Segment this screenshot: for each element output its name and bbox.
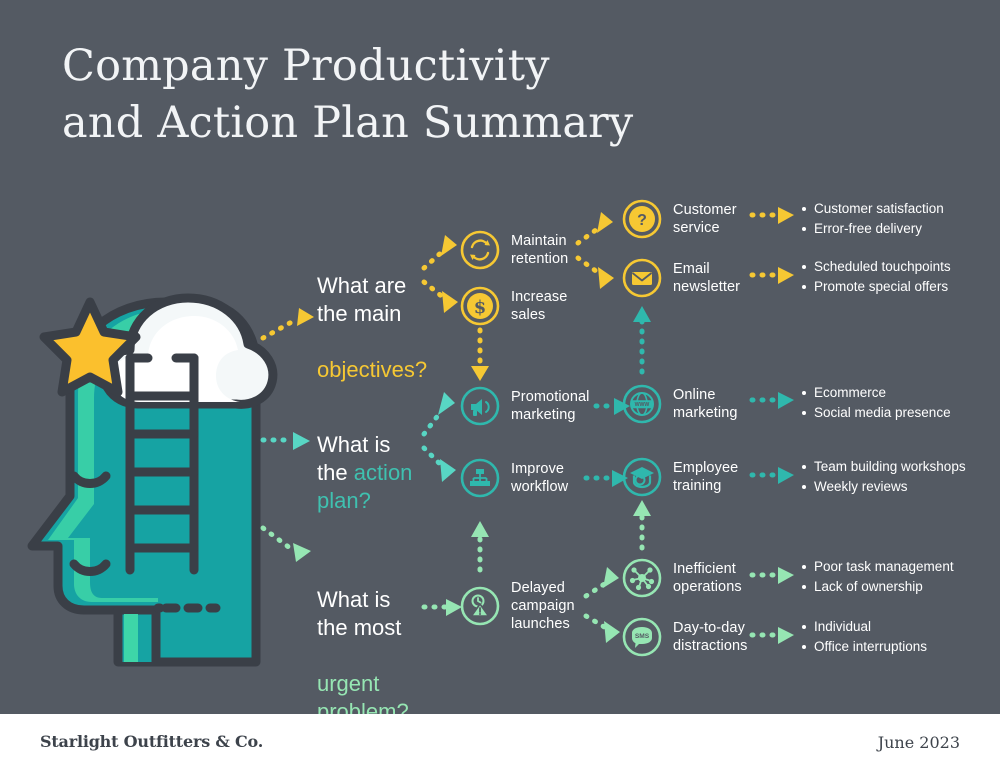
arrow-delayed-to-inefficient: [586, 583, 606, 596]
node-promotional-marketing[interactable]: Promotional marketing: [459, 385, 589, 427]
arrowhead-distractions-bullets: [778, 627, 794, 644]
footer-bar: Starlight Outfitters & Co. June 2023: [0, 714, 1000, 773]
list-item: Customer satisfaction: [800, 199, 1000, 219]
graduation-cap-icon: [621, 456, 663, 498]
arrowhead-head-to-q3: [293, 543, 311, 562]
bullets-email-newsletter: Scheduled touchpoints Promote special of…: [800, 257, 1000, 296]
svg-text:?: ?: [637, 212, 647, 229]
bullets-online-marketing: Ecommerce Social media presence: [800, 383, 1000, 422]
dollar-coin-icon: $: [459, 285, 501, 327]
page-title: Company Productivity and Action Plan Sum…: [62, 38, 702, 152]
svg-text:WWW: WWW: [635, 402, 650, 408]
node-label: Improve workflow: [511, 460, 568, 496]
arrowhead-online-email: [633, 306, 651, 322]
delayed-clock-warning-icon: [459, 585, 501, 627]
node-label: Email newsletter: [673, 260, 740, 296]
arrowhead-online-bullets: [778, 392, 794, 409]
arrowhead-email-bullets: [778, 267, 794, 284]
node-label: Delayed campaign launches: [511, 579, 575, 633]
node-label: Promotional marketing: [511, 388, 589, 424]
question-objectives-white: What are the main: [317, 273, 406, 326]
arrow-retention-to-cs: [578, 227, 600, 243]
arrowhead-training-bullets: [778, 467, 794, 484]
list-item: Office interruptions: [800, 637, 1000, 657]
refresh-cycle-icon: [459, 229, 501, 271]
question-objectives-accent: objectives?: [317, 357, 427, 382]
arrowhead-inefficient-bullets: [778, 567, 794, 584]
question-mark-icon: ?: [621, 198, 663, 240]
node-day-to-day-distractions[interactable]: SMS Day-to-day distractions: [621, 616, 748, 658]
question-urgent-problem-white: What is the most: [317, 587, 401, 640]
node-inefficient-operations[interactable]: Inefficient operations: [621, 557, 742, 599]
node-online-marketing[interactable]: WWW Online marketing: [621, 383, 738, 425]
arrowhead-head-to-q1: [297, 308, 314, 326]
sms-bubble-icon: SMS: [621, 616, 663, 658]
arrowhead-retention-cs: [597, 212, 613, 233]
arrowhead-head-to-q2: [293, 432, 310, 450]
arrowhead-sales-promo: [471, 366, 489, 381]
arrowhead-inefficient-training: [633, 500, 651, 516]
question-objectives: What are the main objectives?: [317, 244, 467, 384]
footer-brand: Starlight Outfitters & Co.: [40, 732, 263, 751]
node-increase-sales[interactable]: $ Increase sales: [459, 285, 567, 327]
megaphone-icon: [459, 385, 501, 427]
footer-date: June 2023: [878, 733, 960, 752]
head-with-ladder-cloud-star-illustration: [18, 258, 290, 678]
list-item: Promote special offers: [800, 277, 1000, 297]
node-improve-workflow[interactable]: Improve workflow: [459, 457, 568, 499]
svg-text:SMS: SMS: [635, 633, 650, 640]
envelope-icon: [621, 257, 663, 299]
infographic-canvas: Company Productivity and Action Plan Sum…: [0, 0, 1000, 773]
node-employee-training[interactable]: Employee training: [621, 456, 738, 498]
list-item: Team building workshops: [800, 457, 1000, 477]
node-delayed-campaign-launches[interactable]: Delayed campaign launches: [459, 579, 575, 633]
list-item: Social media presence: [800, 403, 1000, 423]
list-item: Lack of ownership: [800, 577, 1000, 597]
list-item: Ecommerce: [800, 383, 1000, 403]
org-chart-icon: [459, 457, 501, 499]
arrow-delayed-to-distractions: [586, 616, 606, 628]
node-email-newsletter[interactable]: Email newsletter: [621, 257, 740, 299]
arrow-retention-to-email: [578, 258, 600, 274]
question-urgent-problem: What is the most urgent problem?: [317, 558, 467, 726]
network-nodes-icon: [621, 557, 663, 599]
node-label: Increase sales: [511, 288, 567, 324]
bullets-customer-service: Customer satisfaction Error-free deliver…: [800, 199, 1000, 238]
node-label: Customer service: [673, 201, 737, 237]
question-action-plan: What is the action plan?: [317, 403, 467, 515]
list-item: Scheduled touchpoints: [800, 257, 1000, 277]
arrowhead-cs-bullets: [778, 207, 794, 224]
list-item: Weekly reviews: [800, 477, 1000, 497]
list-item: Error-free delivery: [800, 219, 1000, 239]
list-item: Individual: [800, 617, 1000, 637]
bullets-employee-training: Team building workshops Weekly reviews: [800, 457, 1000, 496]
node-label: Inefficient operations: [673, 560, 742, 596]
node-maintain-retention[interactable]: Maintain retention: [459, 229, 568, 271]
neck-highlight: [124, 614, 138, 662]
bullets-day-to-day-distractions: Individual Office interruptions: [800, 617, 1000, 656]
list-item: Poor task management: [800, 557, 1000, 577]
arrowhead-delayed-workflow: [471, 521, 489, 537]
node-label: Employee training: [673, 459, 738, 495]
www-globe-icon: WWW: [621, 383, 663, 425]
arrowhead-retention-email: [598, 267, 614, 289]
svg-text:$: $: [474, 297, 487, 318]
node-customer-service[interactable]: ? Customer service: [621, 198, 737, 240]
arrowhead-delayed-inefficient: [603, 567, 619, 588]
arrowhead-delayed-distractions: [604, 621, 620, 643]
node-label: Maintain retention: [511, 232, 568, 268]
bullets-inefficient-operations: Poor task management Lack of ownership: [800, 557, 1000, 596]
node-label: Day-to-day distractions: [673, 619, 748, 655]
node-label: Online marketing: [673, 386, 738, 422]
